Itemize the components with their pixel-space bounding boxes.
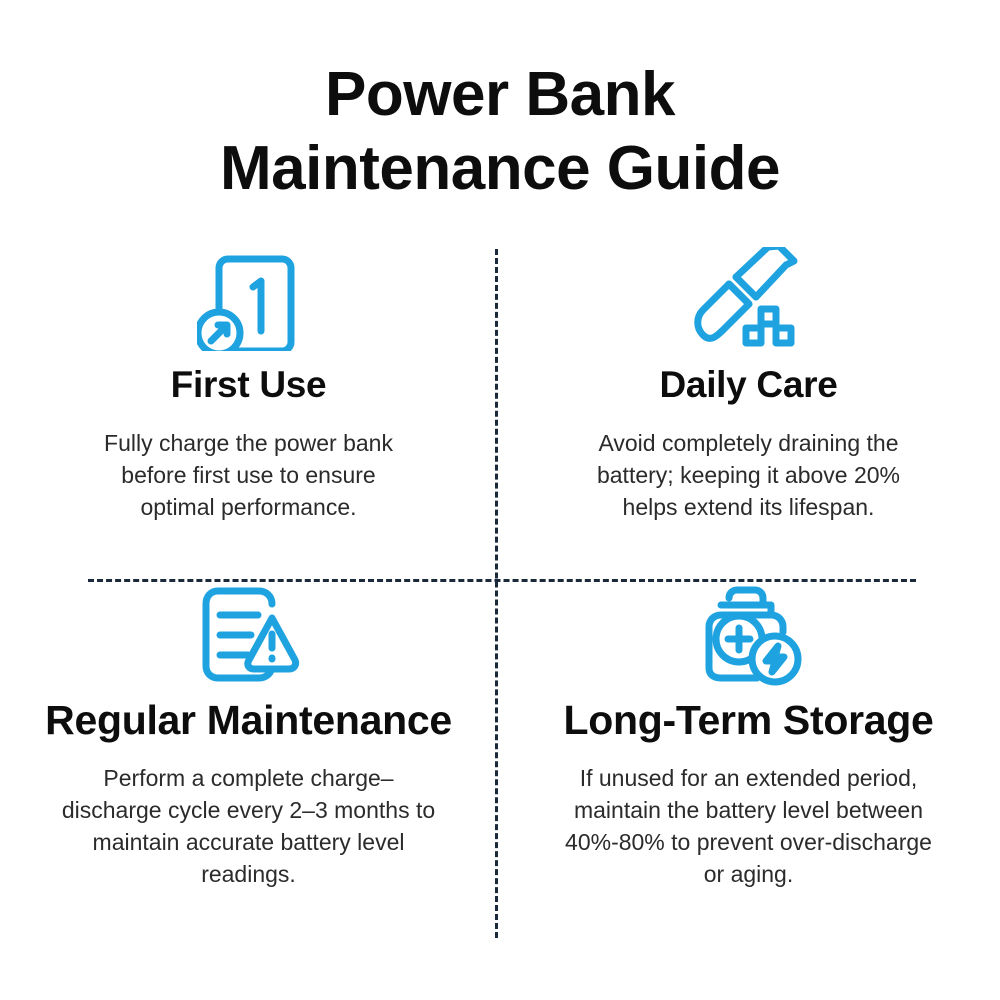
numbered-square-one-arrow-icon bbox=[197, 243, 301, 355]
cards-grid: First Use Fully charge the power bank be… bbox=[0, 243, 1000, 943]
card-heading: First Use bbox=[171, 363, 327, 407]
card-regular-maintenance: Regular Maintenance Perform a complete c… bbox=[0, 580, 497, 943]
card-body: Perform a complete charge–discharge cycl… bbox=[59, 762, 439, 890]
infographic-poster: Power Bank Maintenance Guide First Use F… bbox=[0, 0, 1000, 1000]
title-line-2: Maintenance Guide bbox=[0, 132, 1000, 206]
card-body: If unused for an extended period, mainta… bbox=[559, 762, 939, 890]
card-heading: Long-Term Storage bbox=[564, 696, 934, 744]
card-long-term-storage: Long-Term Storage If unused for an exten… bbox=[497, 580, 1000, 943]
document-warning-icon bbox=[196, 580, 302, 688]
card-body: Avoid completely draining the battery; k… bbox=[569, 427, 929, 523]
card-body: Fully charge the power bank before first… bbox=[84, 427, 414, 523]
screwdriver-tools-icon bbox=[693, 243, 805, 355]
page-title: Power Bank Maintenance Guide bbox=[0, 58, 1000, 206]
card-first-use: First Use Fully charge the power bank be… bbox=[0, 243, 497, 580]
card-heading: Daily Care bbox=[660, 363, 838, 407]
title-line-1: Power Bank bbox=[0, 58, 1000, 132]
card-heading: Regular Maintenance bbox=[45, 696, 452, 744]
battery-plus-bolt-icon bbox=[695, 580, 803, 688]
card-daily-care: Daily Care Avoid completely draining the… bbox=[497, 243, 1000, 580]
